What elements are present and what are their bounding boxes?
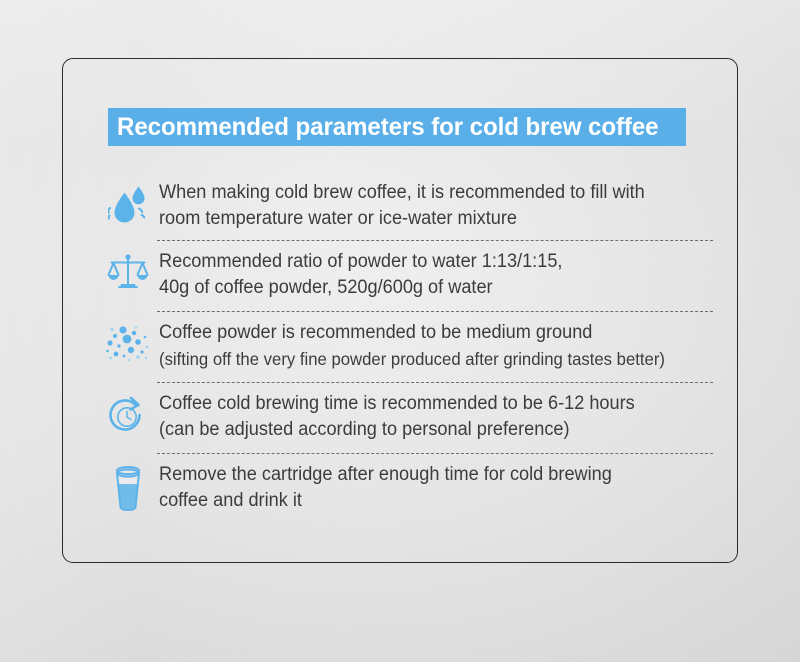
list-item-text: Recommended ratio of powder to water 1:1… — [159, 249, 717, 301]
list-item: Coffee powder is recommended to be mediu… — [97, 320, 717, 378]
list-item-line: Remove the cartridge after enough time f… — [159, 462, 692, 488]
list-item-line: When making cold brew coffee, it is reco… — [159, 180, 692, 206]
card-title-banner: Recommended parameters for cold brew cof… — [108, 108, 686, 146]
list-item-line: Coffee cold brewing time is recommended … — [159, 391, 692, 417]
page-background: Recommended parameters for cold brew cof… — [0, 0, 800, 662]
list-item-line: Coffee powder is recommended to be mediu… — [159, 320, 692, 346]
coffee-grounds-particles-icon — [97, 320, 159, 364]
list-item: Remove the cartridge after enough time f… — [97, 462, 717, 520]
balance-scale-icon — [97, 249, 159, 293]
list-item-line: Recommended ratio of powder to water 1:1… — [159, 249, 692, 275]
info-card: Recommended parameters for cold brew cof… — [62, 58, 738, 563]
list-item: When making cold brew coffee, it is reco… — [97, 180, 717, 236]
list-item-line: (can be adjusted according to personal p… — [159, 417, 692, 443]
parameter-list: When making cold brew coffee, it is reco… — [97, 180, 717, 520]
list-item-text: When making cold brew coffee, it is reco… — [159, 180, 717, 232]
list-item-line: room temperature water or ice-water mixt… — [159, 206, 692, 232]
water-glass-icon — [97, 462, 159, 512]
list-item-text: Coffee cold brewing time is recommended … — [159, 391, 717, 443]
list-item-text: Remove the cartridge after enough time f… — [159, 462, 717, 514]
list-item-text: Coffee powder is recommended to be mediu… — [159, 320, 717, 372]
card-title: Recommended parameters for cold brew cof… — [117, 115, 659, 140]
list-item-line: coffee and drink it — [159, 488, 692, 514]
water-drop-icon — [97, 180, 159, 226]
clock-refresh-icon — [97, 391, 159, 437]
list-item: Recommended ratio of powder to water 1:1… — [97, 249, 717, 307]
list-item-line: 40g of coffee powder, 520g/600g of water — [159, 275, 692, 301]
list-item-line: (sifting off the very fine powder produc… — [159, 346, 692, 372]
list-item: Coffee cold brewing time is recommended … — [97, 391, 717, 449]
